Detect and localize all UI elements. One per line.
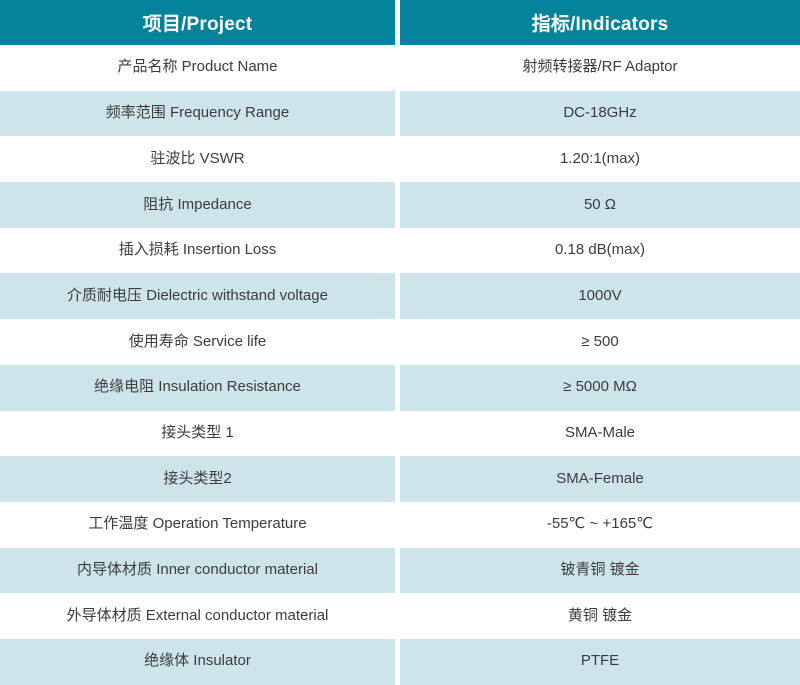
table-row: 绝缘体 InsulatorPTFE: [0, 639, 800, 685]
cell-indicator: 0.18 dB(max): [400, 228, 800, 274]
table-row: 内导体材质 Inner conductor material铍青铜 镀金: [0, 548, 800, 594]
cell-project: 绝缘电阻 Insulation Resistance: [0, 365, 400, 411]
table-row: 介质耐电压 Dielectric withstand voltage1000V: [0, 273, 800, 319]
cell-indicator: 1000V: [400, 273, 800, 319]
cell-indicator: 50 Ω: [400, 182, 800, 228]
cell-project: 阻抗 Impedance: [0, 182, 400, 228]
table-body: 产品名称 Product Name射频转接器/RF Adaptor频率范围 Fr…: [0, 45, 800, 685]
table-row: 绝缘电阻 Insulation Resistance≥ 5000 MΩ: [0, 365, 800, 411]
cell-indicator: -55℃ ~ +165℃: [400, 502, 800, 548]
cell-project: 内导体材质 Inner conductor material: [0, 548, 400, 594]
column-header-project: 项目/Project: [0, 0, 400, 45]
cell-indicator: 铍青铜 镀金: [400, 548, 800, 594]
table-row: 阻抗 Impedance50 Ω: [0, 182, 800, 228]
cell-indicator: 1.20:1(max): [400, 136, 800, 182]
table-row: 频率范围 Frequency RangeDC-18GHz: [0, 91, 800, 137]
cell-project: 介质耐电压 Dielectric withstand voltage: [0, 273, 400, 319]
cell-project: 绝缘体 Insulator: [0, 639, 400, 685]
table-header-row: 项目/Project 指标/Indicators: [0, 0, 800, 45]
cell-project: 外导体材质 External conductor material: [0, 593, 400, 639]
cell-indicator: 黄铜 镀金: [400, 593, 800, 639]
cell-project: 接头类型 1: [0, 411, 400, 457]
cell-project: 产品名称 Product Name: [0, 45, 400, 91]
cell-indicator: DC-18GHz: [400, 91, 800, 137]
cell-project: 使用寿命 Service life: [0, 319, 400, 365]
table-row: 接头类型2SMA-Female: [0, 456, 800, 502]
cell-project: 接头类型2: [0, 456, 400, 502]
column-header-indicators: 指标/Indicators: [400, 0, 800, 45]
cell-indicator: PTFE: [400, 639, 800, 685]
table-row: 插入损耗 Insertion Loss0.18 dB(max): [0, 228, 800, 274]
table-header: 项目/Project 指标/Indicators: [0, 0, 800, 45]
cell-project: 频率范围 Frequency Range: [0, 91, 400, 137]
cell-indicator: SMA-Female: [400, 456, 800, 502]
cell-project: 驻波比 VSWR: [0, 136, 400, 182]
specification-table: 项目/Project 指标/Indicators 产品名称 Product Na…: [0, 0, 800, 685]
cell-indicator: ≥ 500: [400, 319, 800, 365]
table-row: 接头类型 1SMA-Male: [0, 411, 800, 457]
table-row: 驻波比 VSWR1.20:1(max): [0, 136, 800, 182]
cell-project: 工作温度 Operation Temperature: [0, 502, 400, 548]
cell-indicator: 射频转接器/RF Adaptor: [400, 45, 800, 91]
table-row: 产品名称 Product Name射频转接器/RF Adaptor: [0, 45, 800, 91]
cell-indicator: ≥ 5000 MΩ: [400, 365, 800, 411]
table-row: 工作温度 Operation Temperature-55℃ ~ +165℃: [0, 502, 800, 548]
cell-project: 插入损耗 Insertion Loss: [0, 228, 400, 274]
table-row: 外导体材质 External conductor material黄铜 镀金: [0, 593, 800, 639]
cell-indicator: SMA-Male: [400, 411, 800, 457]
table-row: 使用寿命 Service life≥ 500: [0, 319, 800, 365]
